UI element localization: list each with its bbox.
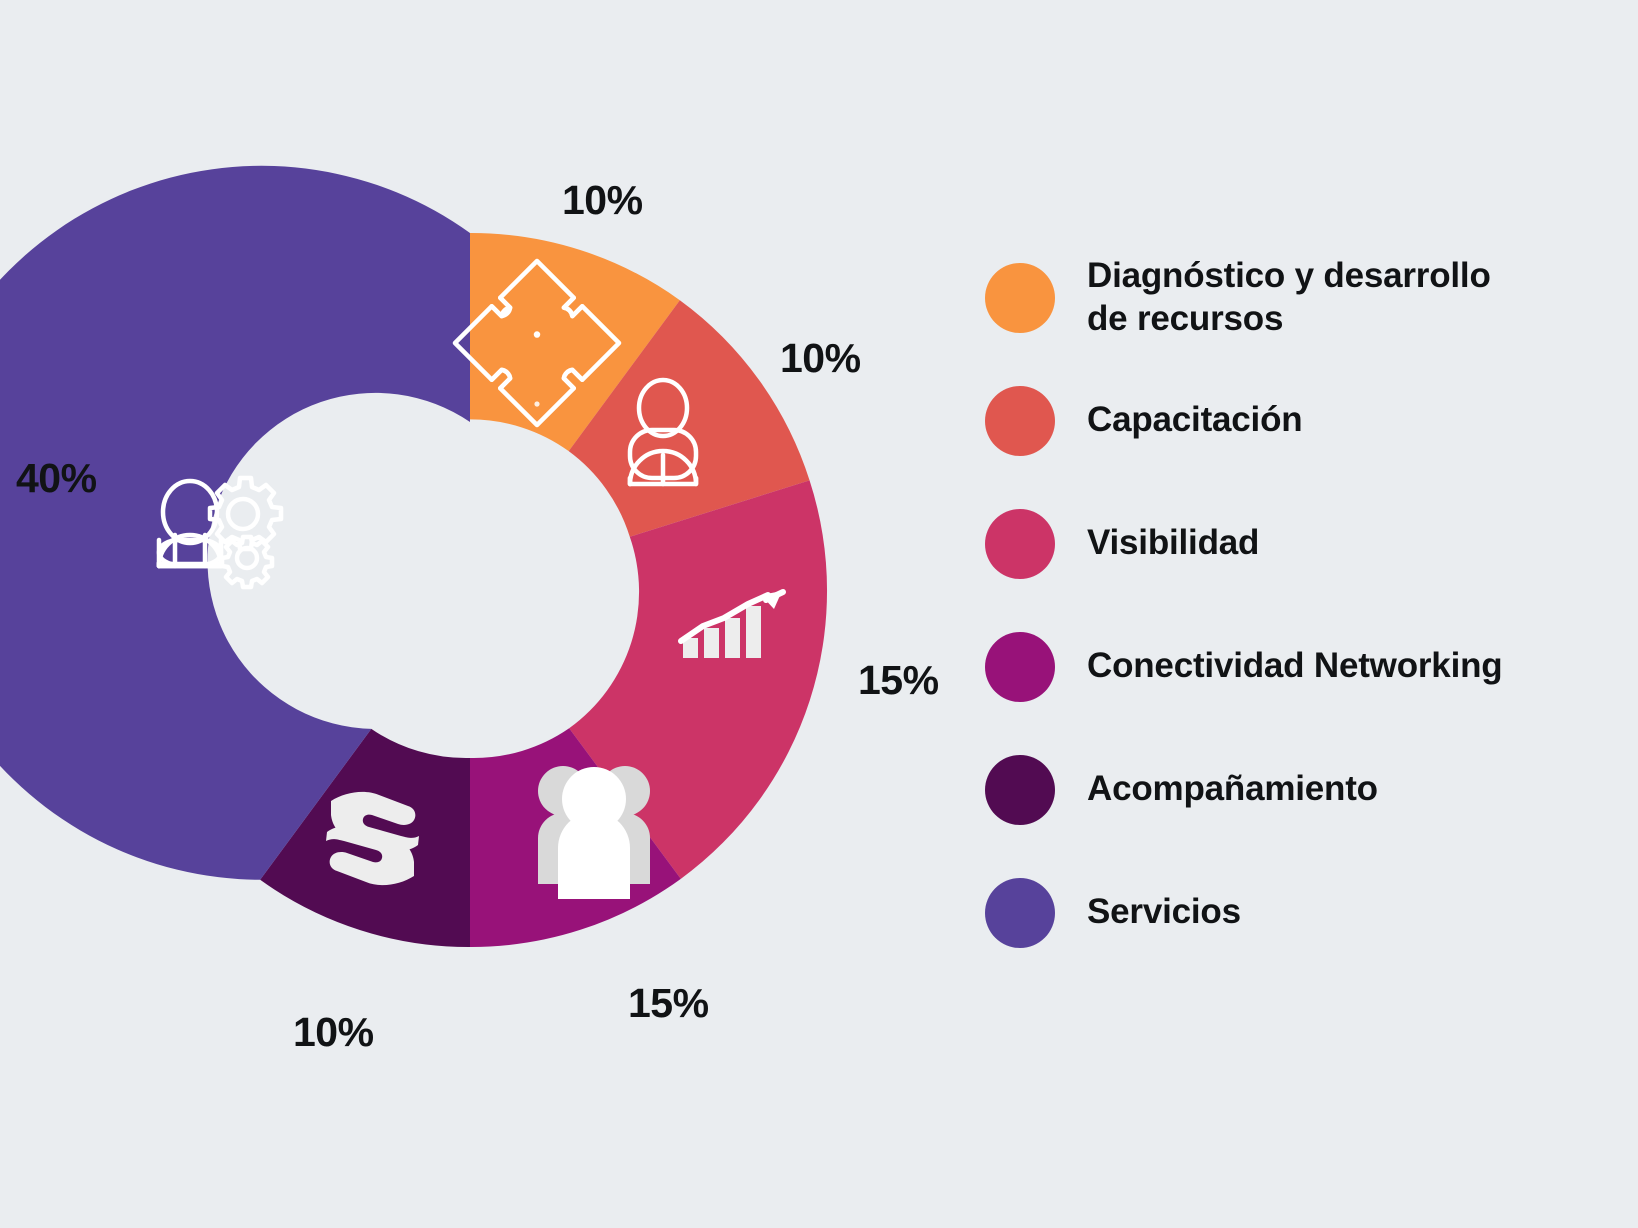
legend-item-diagnostico[interactable]: Diagnóstico y desarrollo de recursos [985,236,1605,359]
legend-label-capacitacion: Capacitación [1087,399,1302,442]
legend-item-visibilidad[interactable]: Visibilidad [985,482,1605,605]
helping-hands-icon [326,792,419,885]
percent-label-servicios: 40% [16,458,97,499]
legend-swatch-servicios [985,878,1055,948]
chart-area: 10% 10% 15% 15% 10% 40% [0,0,960,1228]
percent-label-conectividad: 15% [628,983,709,1024]
legend-label-visibilidad: Visibilidad [1087,522,1259,565]
legend-label-conectividad: Conectividad Networking [1087,645,1502,688]
people-group-icon [538,766,650,899]
legend-swatch-acompanamiento [985,755,1055,825]
legend-swatch-conectividad [985,632,1055,702]
chart-legend: Diagnóstico y desarrollo de recursos Cap… [985,236,1605,974]
legend-label-diagnostico: Diagnóstico y desarrollo de recursos [1087,255,1491,340]
puzzle-dot-icon [534,401,539,406]
legend-item-servicios[interactable]: Servicios [985,851,1605,974]
legend-label-servicios: Servicios [1087,891,1241,934]
percent-label-diagnostico: 10% [562,180,643,221]
percent-label-visibilidad: 15% [858,660,939,701]
legend-item-capacitacion[interactable]: Capacitación [985,359,1605,482]
legend-swatch-diagnostico [985,263,1055,333]
legend-swatch-visibilidad [985,509,1055,579]
donut-chart-svg [0,0,960,1228]
legend-item-acompanamiento[interactable]: Acompañamiento [985,728,1605,851]
legend-label-acompanamiento: Acompañamiento [1087,768,1378,811]
legend-item-conectividad[interactable]: Conectividad Networking [985,605,1605,728]
percent-label-acompanamiento: 10% [293,1012,374,1053]
donut-chart-infographic: 10% 10% 15% 15% 10% 40% Diagnóstico y de… [0,0,1638,1228]
percent-label-capacitacion: 10% [780,338,861,379]
legend-swatch-capacitacion [985,386,1055,456]
